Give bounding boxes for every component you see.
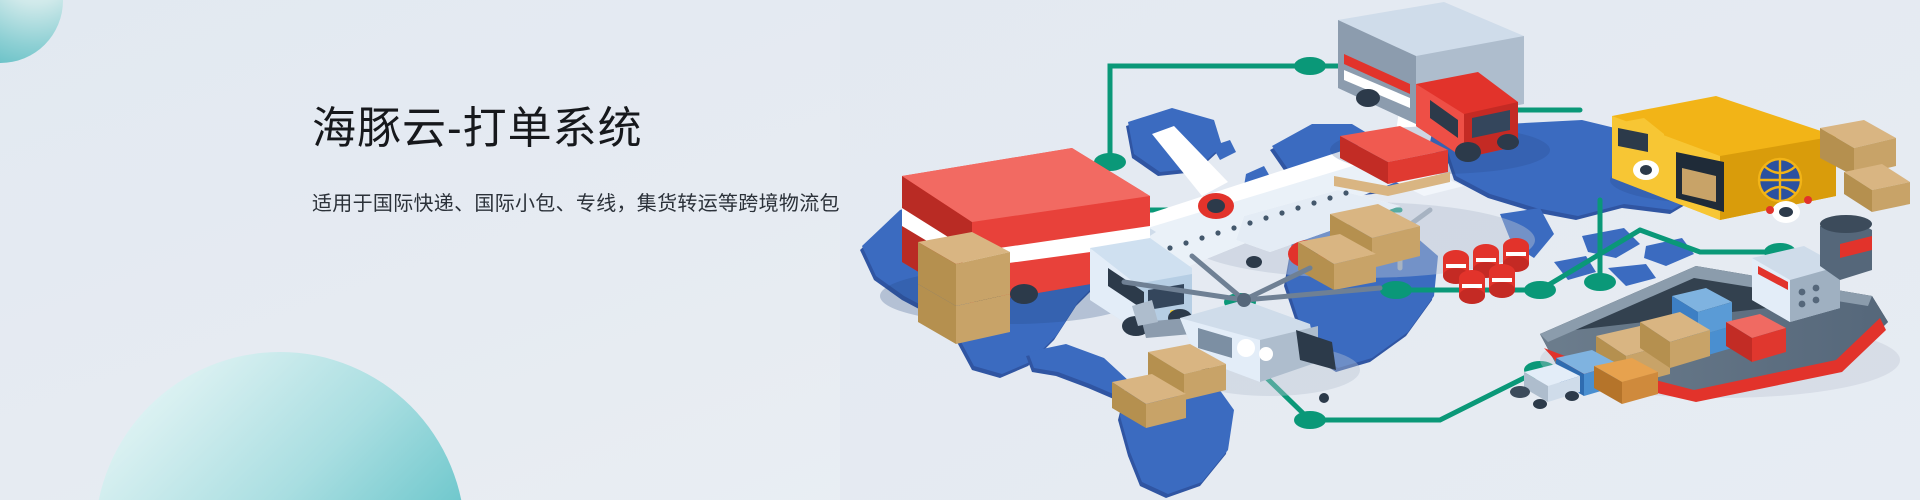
page-title: 海豚云-打单系统	[312, 104, 932, 155]
banner-copy: 海豚云-打单系统 适用于国际快递、国际小包、专线，集货转运等跨境物流包裹处理	[312, 104, 932, 219]
hero-banner: 海豚云-打单系统 适用于国际快递、国际小包、专线，集货转运等跨境物流包裹处理	[0, 0, 1920, 500]
decorative-circle-bottom-left	[95, 352, 465, 500]
global-logistics-illustration	[840, 0, 1920, 500]
cargo-boxes-left	[918, 232, 1010, 344]
page-subtitle: 适用于国际快递、国际小包、专线，集货转运等跨境物流包裹处理	[312, 189, 932, 219]
decorative-circle-top-left	[0, 0, 63, 63]
